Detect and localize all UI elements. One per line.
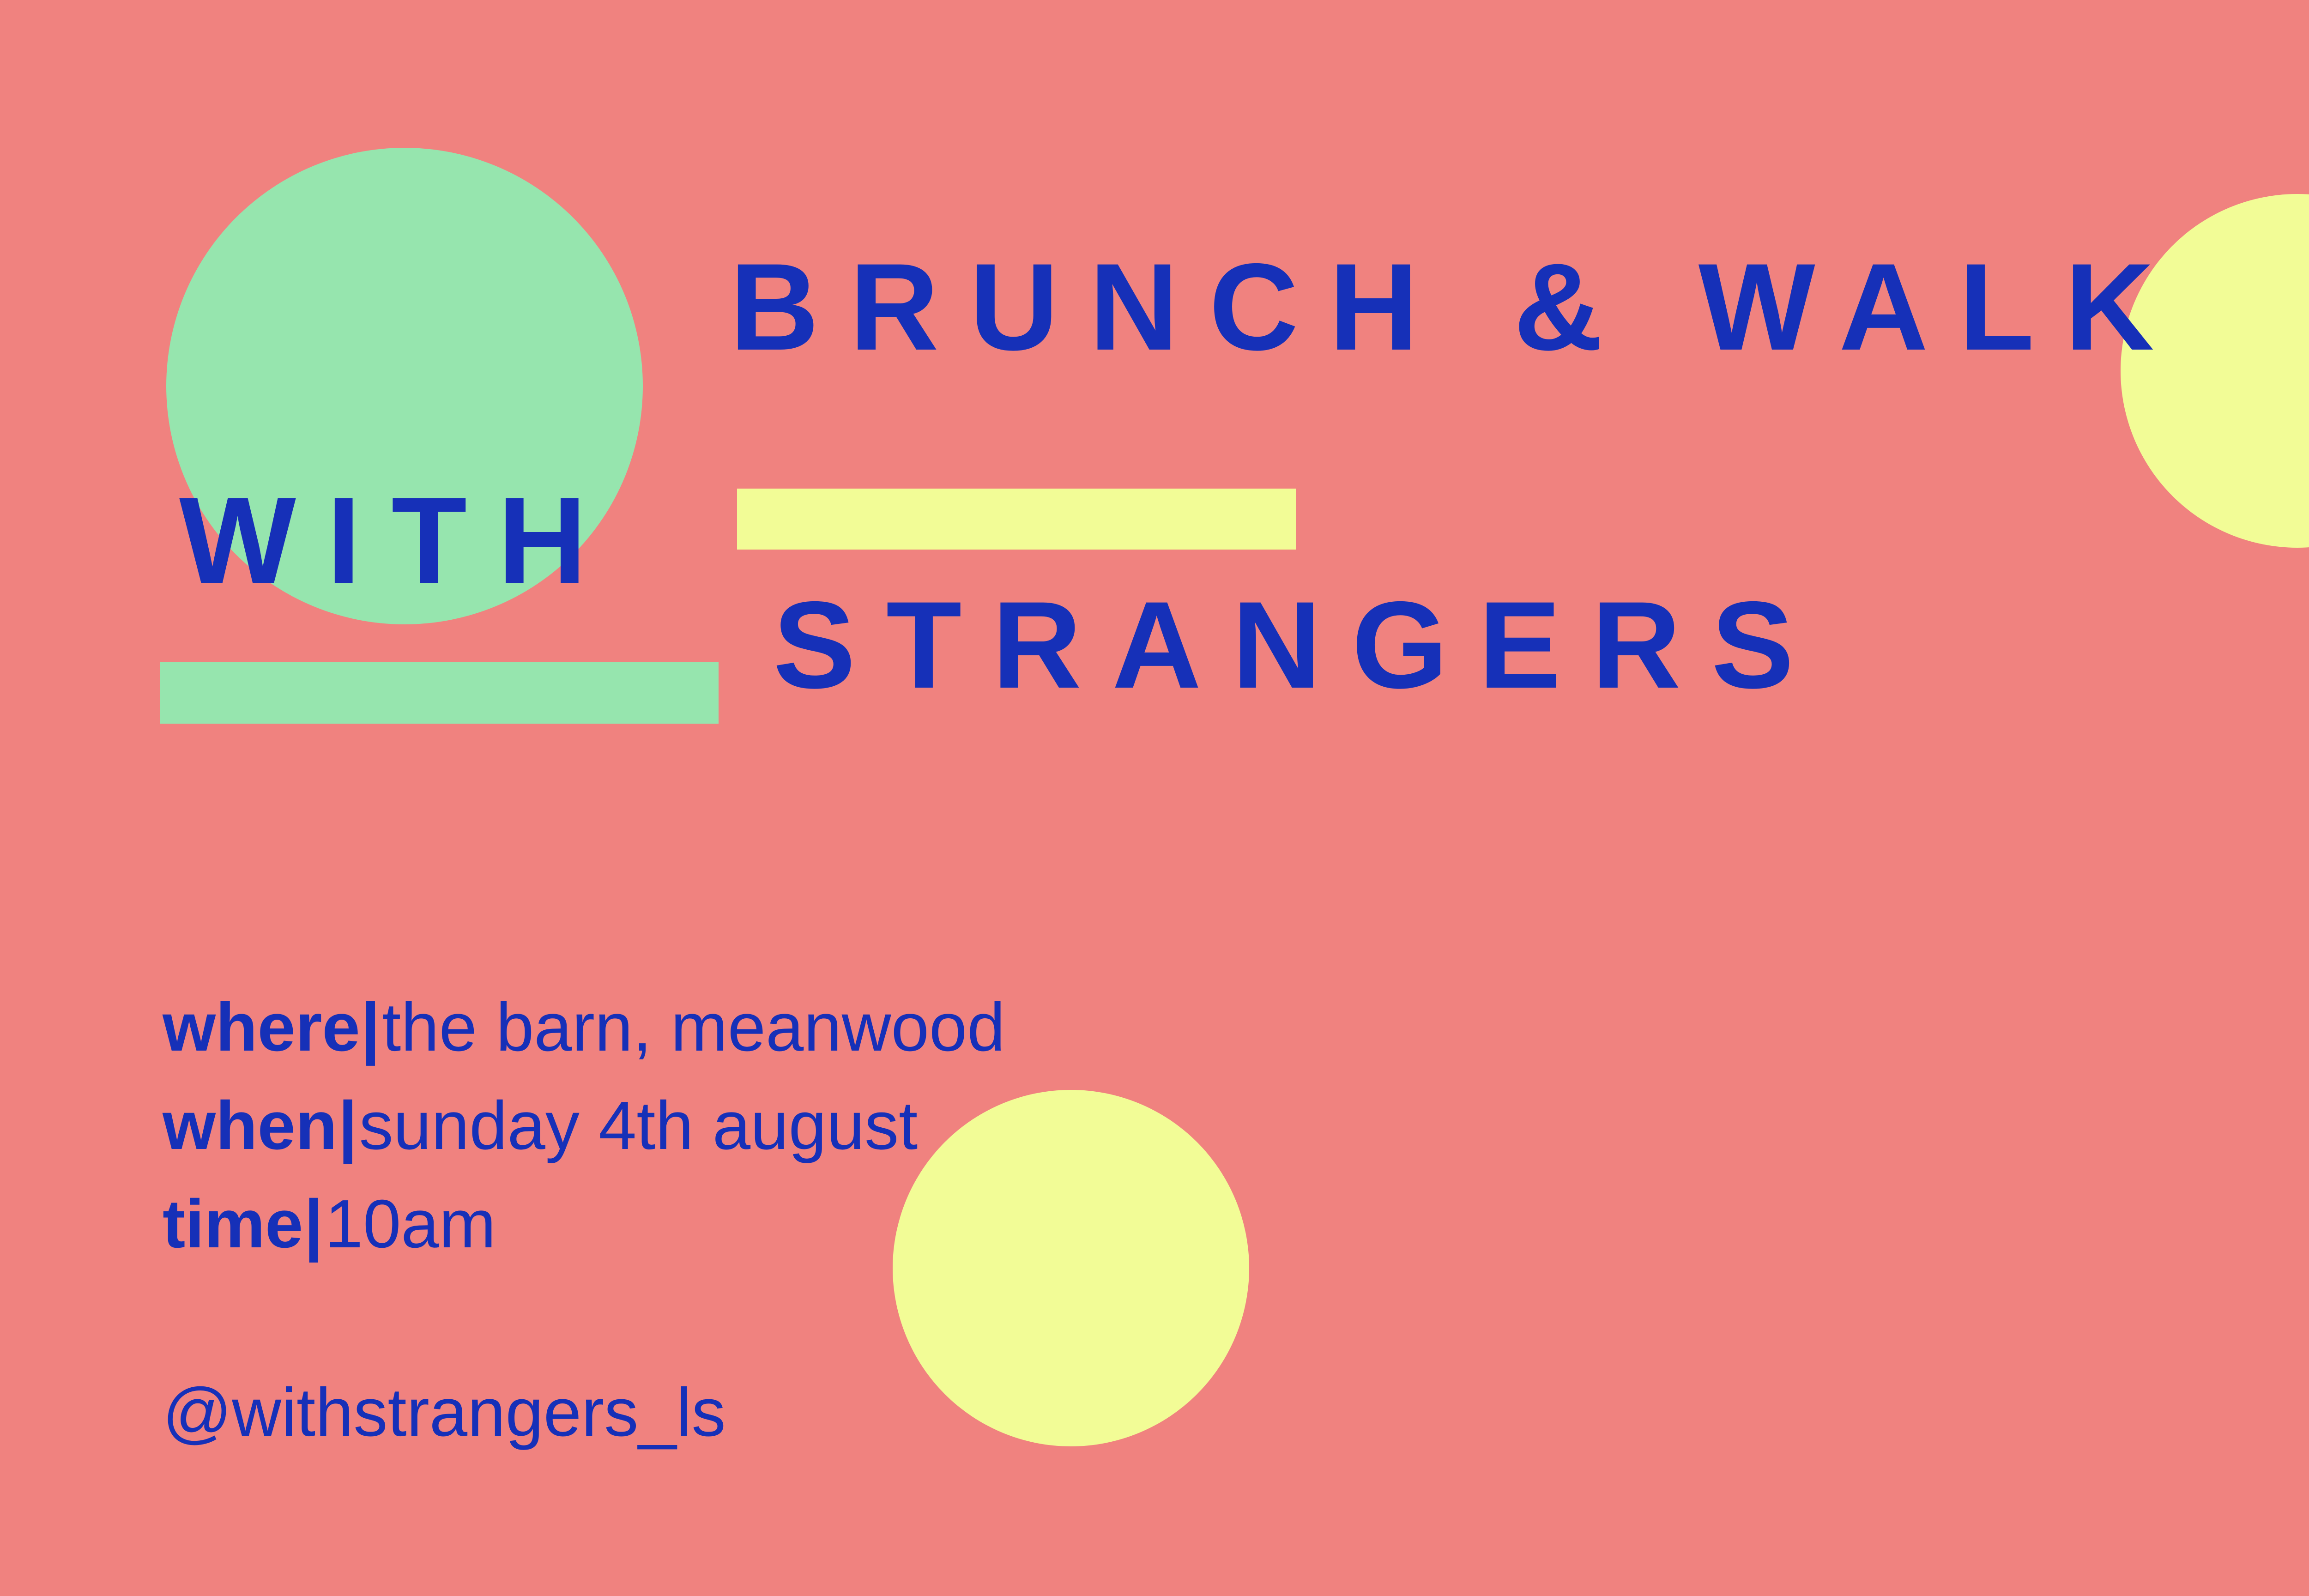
- detail-label-when: when: [163, 1088, 337, 1164]
- headline-line-one: BRUNCH & WALK: [730, 245, 2185, 369]
- event-poster: BRUNCH & WALK WITH STRANGERS where|the b…: [0, 0, 2309, 1596]
- detail-value-time: 10am: [325, 1186, 496, 1262]
- detail-label-time: time: [163, 1186, 303, 1262]
- detail-row-time: time|10am: [163, 1175, 1005, 1273]
- headline-line-two: WITH: [179, 478, 617, 602]
- detail-label-where: where: [163, 989, 360, 1065]
- detail-separator: |: [303, 1186, 325, 1262]
- event-details: where|the barn, meanwood when|sunday 4th…: [163, 978, 1005, 1273]
- headline-line-three: STRANGERS: [773, 583, 1825, 707]
- instagram-handle: @withstrangers_ls: [163, 1372, 726, 1454]
- detail-separator: |: [337, 1088, 359, 1164]
- detail-row-when: when|sunday 4th august: [163, 1076, 1005, 1175]
- detail-value-when: sunday 4th august: [359, 1088, 918, 1164]
- detail-row-where: where|the barn, meanwood: [163, 978, 1005, 1076]
- detail-value-where: the barn, meanwood: [382, 989, 1005, 1065]
- detail-separator: |: [360, 989, 382, 1065]
- poster-text: BRUNCH & WALK WITH STRANGERS where|the b…: [0, 0, 2309, 1596]
